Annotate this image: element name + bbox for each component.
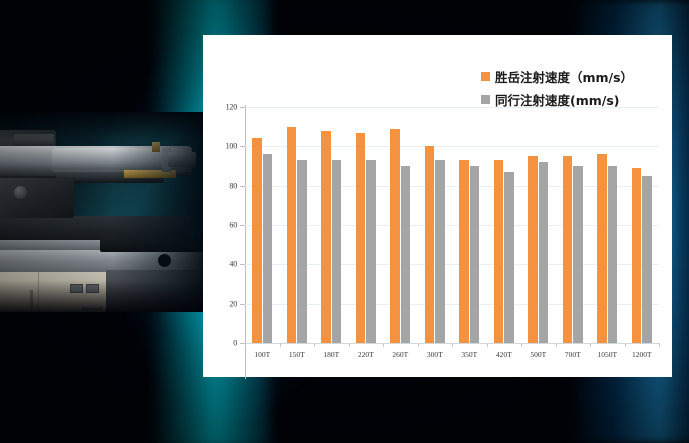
- bar-260T-series-0: [390, 129, 400, 343]
- gridline-120: [245, 107, 659, 108]
- bar-700T-series-0: [563, 156, 573, 343]
- gridline-100: [245, 146, 659, 147]
- y-axis-labels: 020406080100120: [203, 35, 237, 377]
- bar-100T-series-1: [263, 154, 273, 343]
- x-tick-100T: [245, 343, 246, 347]
- bar-350T-series-0: [459, 160, 469, 343]
- y-tick-label-100: 100: [226, 142, 237, 151]
- x-tick-end: [659, 343, 660, 347]
- y-tick-20: [240, 304, 245, 305]
- bar-180T-series-1: [332, 160, 342, 343]
- x-tick-150T: [280, 343, 281, 347]
- bar-1200T-series-1: [642, 176, 652, 343]
- y-tick-label-20: 20: [229, 299, 237, 308]
- x-tick-label-100T: 100T: [254, 350, 270, 359]
- bar-1050T-series-0: [597, 154, 607, 343]
- y-tick-label-0: 0: [233, 339, 237, 348]
- bar-150T-series-1: [297, 160, 307, 343]
- bar-180T-series-0: [321, 131, 331, 343]
- y-tick-label-60: 60: [229, 221, 237, 230]
- x-tick-label-1050T: 1050T: [597, 350, 617, 359]
- bar-300T-series-1: [435, 160, 445, 343]
- legend-swatch-icon-series-1: [481, 95, 490, 104]
- y-tick-100: [240, 146, 245, 147]
- legend-label-series-0: 胜岳注射速度（mm/s）: [495, 67, 633, 86]
- x-axis-labels: 100T150T180T220T260T300T350T420T500T700T…: [245, 350, 659, 366]
- x-tick-label-150T: 150T: [289, 350, 305, 359]
- x-tick-1050T: [590, 343, 591, 347]
- y-tick-80: [240, 186, 245, 187]
- x-tick-label-260T: 260T: [392, 350, 408, 359]
- x-tick-180T: [314, 343, 315, 347]
- bar-260T-series-1: [401, 166, 411, 343]
- chart-panel: 胜岳注射速度（mm/s） 同行注射速度(mm/s) 02040608010012…: [203, 35, 672, 377]
- bar-700T-series-1: [573, 166, 583, 343]
- x-tick-label-500T: 500T: [530, 350, 546, 359]
- y-tick-60: [240, 225, 245, 226]
- y-tick-120: [240, 107, 245, 108]
- bar-220T-series-0: [356, 133, 366, 343]
- x-tick-label-220T: 220T: [358, 350, 374, 359]
- plot-area: [245, 107, 659, 343]
- bar-500T-series-0: [528, 156, 538, 343]
- x-tick-300T: [418, 343, 419, 347]
- legend-swatch-icon-series-0: [481, 72, 490, 81]
- x-tick-260T: [383, 343, 384, 347]
- bar-350T-series-1: [470, 166, 480, 343]
- y-tick-label-40: 40: [229, 260, 237, 269]
- x-tick-500T: [521, 343, 522, 347]
- y-tick-label-80: 80: [229, 181, 237, 190]
- bar-420T-series-1: [504, 172, 514, 343]
- bar-220T-series-1: [366, 160, 376, 343]
- legend-item-series-0: 胜岳注射速度（mm/s）: [481, 67, 667, 86]
- bar-150T-series-0: [287, 127, 297, 343]
- x-tick-220T: [349, 343, 350, 347]
- screenshot-root: 胜岳注射速度（mm/s） 同行注射速度(mm/s) 02040608010012…: [0, 0, 689, 443]
- y-tick-40: [240, 264, 245, 265]
- x-tick-label-300T: 300T: [427, 350, 443, 359]
- bar-1200T-series-0: [632, 168, 642, 343]
- bar-500T-series-1: [539, 162, 549, 343]
- x-tick-label-700T: 700T: [565, 350, 581, 359]
- x-tick-label-350T: 350T: [461, 350, 477, 359]
- bar-1050T-series-1: [608, 166, 618, 343]
- y-tick-label-120: 120: [226, 103, 237, 112]
- x-axis-ticks: [245, 343, 659, 347]
- x-tick-label-1200T: 1200T: [632, 350, 652, 359]
- bar-100T-series-0: [252, 138, 262, 343]
- x-tick-1200T: [625, 343, 626, 347]
- x-tick-label-420T: 420T: [496, 350, 512, 359]
- x-tick-420T: [487, 343, 488, 347]
- bar-300T-series-0: [425, 146, 435, 343]
- x-tick-350T: [452, 343, 453, 347]
- x-tick-700T: [556, 343, 557, 347]
- x-tick-label-180T: 180T: [323, 350, 339, 359]
- bar-420T-series-0: [494, 160, 504, 343]
- y-tick-0: [240, 343, 245, 344]
